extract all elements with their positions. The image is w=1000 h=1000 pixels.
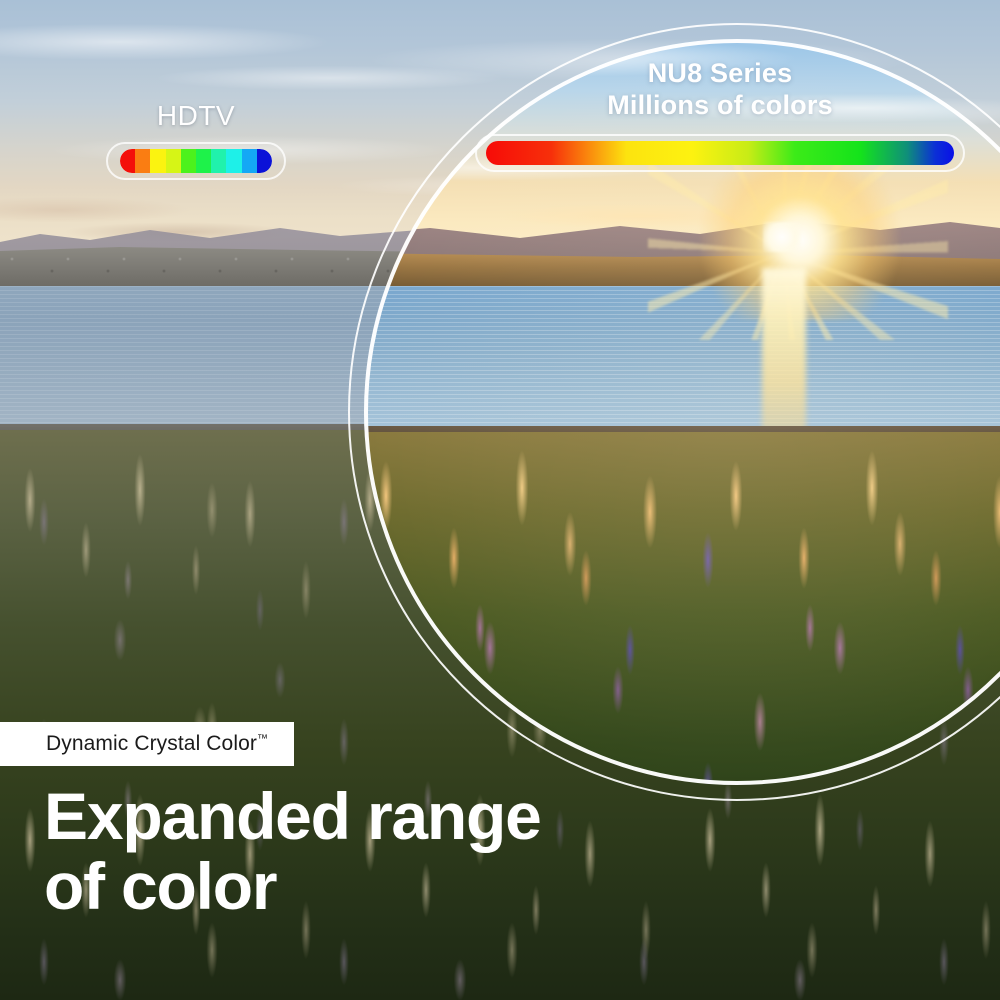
feature-badge-label: Dynamic Crystal Color™ [46, 732, 268, 756]
nu8-gradient-track [486, 141, 954, 165]
hdtv-segment-1 [135, 149, 150, 173]
nu8-title-line2: Millions of colors [470, 90, 970, 122]
headline-line2: of color [44, 852, 684, 922]
hdtv-segment-2 [150, 149, 165, 173]
feature-badge: Dynamic Crystal Color™ [0, 722, 294, 766]
headline-line1: Expanded range [44, 779, 541, 853]
hdtv-segment-5 [196, 149, 211, 173]
trademark-icon: ™ [257, 733, 268, 745]
hdtv-segment-0 [120, 149, 135, 173]
nu8-title: NU8 Series Millions of colors [470, 58, 970, 122]
nu8-comparison-group: NU8 Series Millions of colors [470, 58, 970, 172]
hdtv-segment-9 [257, 149, 272, 173]
hdtv-segment-track [120, 149, 272, 173]
hdtv-segment-3 [166, 149, 181, 173]
hdtv-comparison-group: HDTV [96, 100, 296, 180]
hdtv-label: HDTV [96, 100, 296, 132]
nu8-title-line1: NU8 Series [648, 58, 793, 88]
hdtv-segment-8 [242, 149, 257, 173]
headline: Expanded range of color [44, 782, 684, 922]
hdtv-color-bar [106, 142, 286, 180]
promo-image: HDTV NU8 Series Millions of colors Dynam… [0, 0, 1000, 1000]
feature-badge-text: Dynamic Crystal Color [46, 732, 257, 755]
hdtv-segment-6 [211, 149, 226, 173]
sun-disc [763, 222, 801, 252]
hdtv-segment-7 [226, 149, 241, 173]
hdtv-segment-4 [181, 149, 196, 173]
nu8-color-bar [475, 134, 965, 172]
